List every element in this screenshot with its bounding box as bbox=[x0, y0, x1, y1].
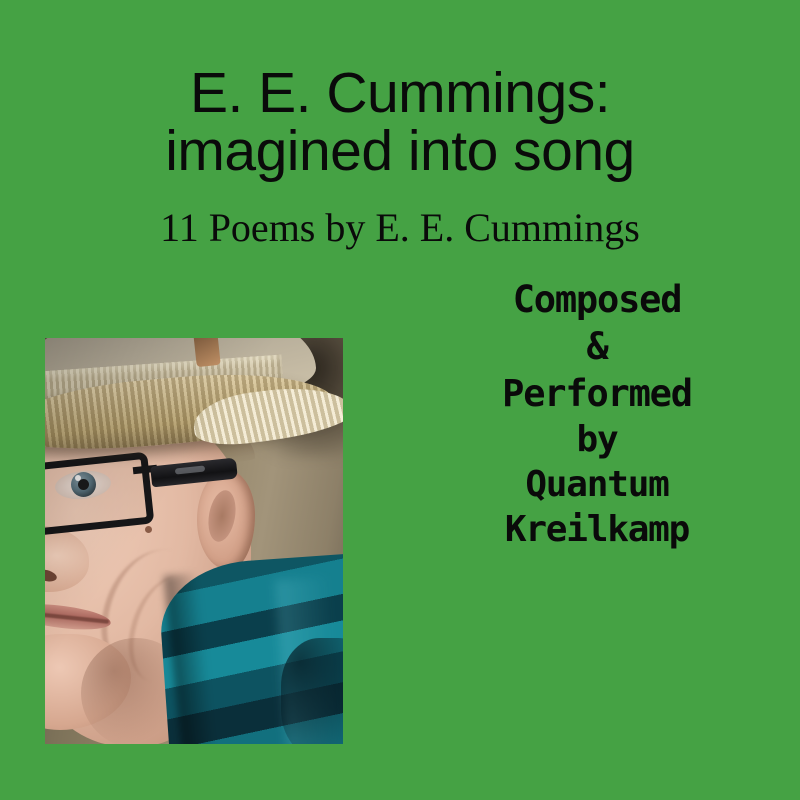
shoulder-shadow bbox=[281, 638, 343, 744]
straw-hat-buckle bbox=[193, 338, 220, 367]
portrait-photo bbox=[45, 338, 343, 744]
credit-line-by: by bbox=[412, 417, 782, 462]
eyeglasses-lens-frame bbox=[45, 452, 154, 537]
title-line-1: E. E. Cummings: bbox=[0, 64, 800, 122]
album-cover: E. E. Cummings: imagined into song 11 Po… bbox=[0, 0, 800, 800]
credit-line-kreilkamp: Kreilkamp bbox=[412, 507, 782, 552]
page-title: E. E. Cummings: imagined into song bbox=[0, 64, 800, 180]
credits-block: Composed & Performed by Quantum Kreilkam… bbox=[412, 276, 782, 552]
credit-line-composed: Composed bbox=[412, 276, 782, 323]
title-line-2: imagined into song bbox=[0, 122, 800, 180]
subtitle: 11 Poems by E. E. Cummings bbox=[0, 205, 800, 251]
cheek-mole bbox=[145, 526, 152, 533]
credit-line-quantum: Quantum bbox=[412, 462, 782, 507]
credit-line-performed: Performed bbox=[412, 370, 782, 417]
credit-line-ampersand: & bbox=[412, 323, 782, 370]
